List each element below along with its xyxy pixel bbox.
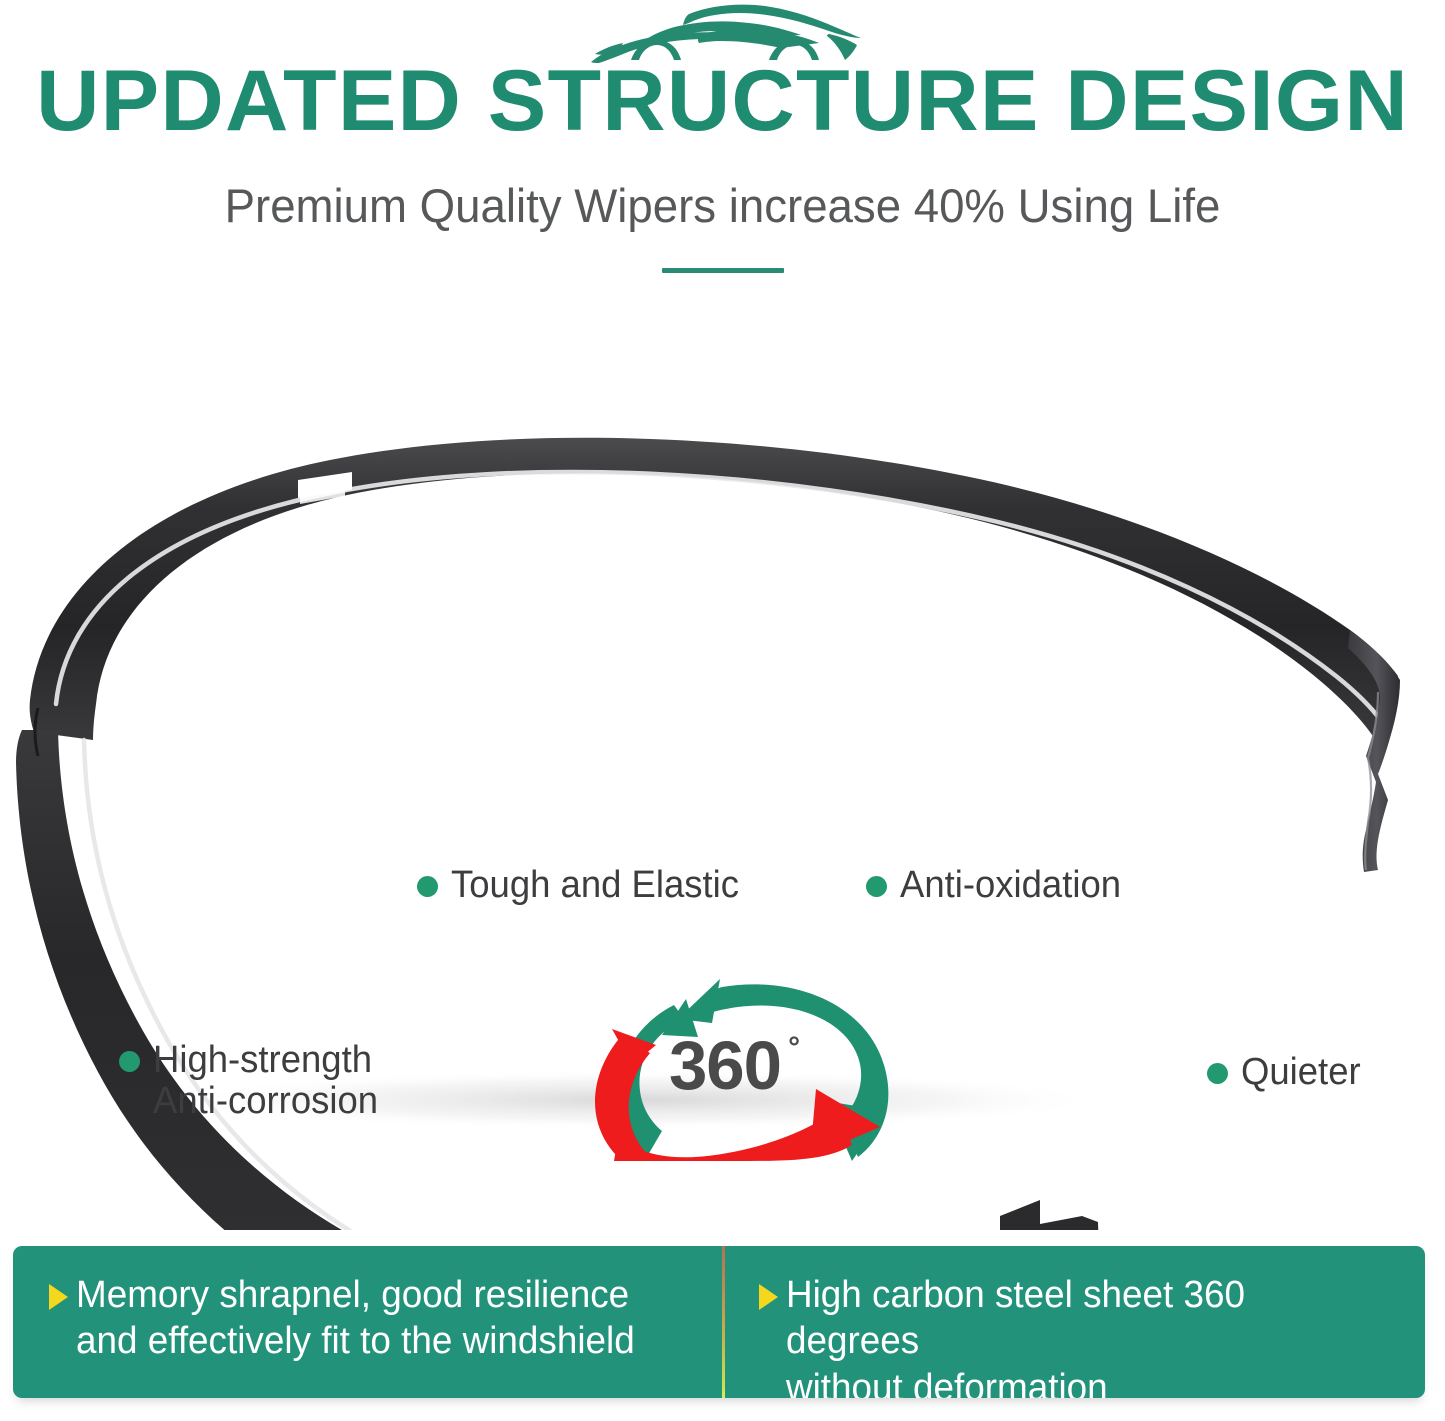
triangle-right-icon [759,1284,778,1310]
benefit-text-line1: Memory shrapnel, good resilience [76,1274,629,1316]
bullet-dot-icon [119,1051,140,1072]
benefit-text-line1: High carbon steel sheet 360 degrees [786,1274,1245,1362]
feature-label: Quieter [1241,1052,1361,1093]
rotation-360-badge: 360° [570,961,915,1161]
feature-label: Anti-oxidation [900,865,1121,906]
benefit-text-line2: and effectively fit to the windshield [76,1318,635,1364]
bullet-dot-icon [1207,1063,1228,1084]
feature-callout-tough-and-elastic: Tough and Elastic [417,865,751,906]
benefit-text-line2: without deformation [786,1365,1387,1398]
benefits-banner-right-panel: High carbon steel sheet 360 degreeswitho… [725,1246,1425,1398]
benefit-item: Memory shrapnel, good resilienceand effe… [49,1272,702,1365]
benefits-banner: Memory shrapnel, good resilienceand effe… [13,1246,1425,1398]
feature-callout-high-strength-anti-corrosion: High-strengthAnti-corrosion [119,1040,387,1122]
title-divider-rule [662,268,784,273]
page-title: UPDATED STRUCTURE DESIGN [0,58,1445,144]
triangle-right-icon [49,1284,68,1310]
product-illustration-stage: Tough and Elastic Anti-oxidation High-st… [0,300,1445,1230]
blade-lower-end-notch [1000,1200,1100,1230]
benefit-text: High carbon steel sheet 360 degreeswitho… [786,1272,1387,1398]
bullet-dot-icon [417,876,438,897]
page-subtitle: Premium Quality Wipers increase 40% Usin… [22,178,1424,233]
header-section: UPDATED STRUCTURE DESIGN Premium Quality… [0,0,1445,300]
feature-callout-quieter: Quieter [1207,1052,1366,1093]
bullet-dot-icon [866,876,887,897]
feature-label-line1: High-strength [153,1039,372,1081]
feature-label: Tough and Elastic [451,865,739,906]
feature-callout-anti-oxidation: Anti-oxidation [866,865,1130,906]
benefits-banner-left-panel: Memory shrapnel, good resilienceand effe… [13,1246,722,1398]
benefit-item: High carbon steel sheet 360 degreeswitho… [759,1272,1405,1398]
feature-label-line2: Anti-corrosion [153,1081,378,1122]
feature-label: High-strengthAnti-corrosion [153,1040,378,1122]
benefit-text: Memory shrapnel, good resilienceand effe… [76,1272,635,1365]
